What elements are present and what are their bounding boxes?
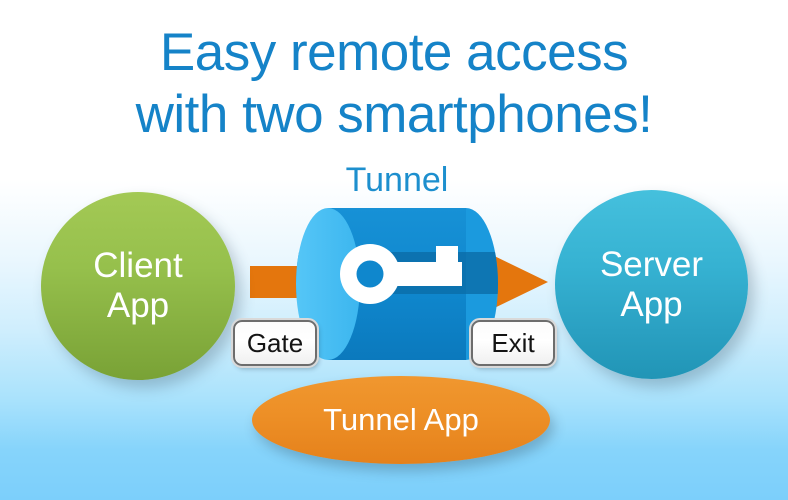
gate-button-label: Gate (247, 329, 303, 357)
gate-button[interactable]: Gate (233, 320, 317, 366)
server-app-label: Server App (600, 245, 703, 325)
client-app-label: Client App (93, 246, 182, 326)
tunnel-label: Tunnel (296, 161, 498, 199)
tunnel-cylinder (296, 208, 498, 360)
tunnel-app-node[interactable]: Tunnel App (252, 376, 550, 464)
server-app-node[interactable]: Server App (555, 190, 748, 379)
exit-button[interactable]: Exit (471, 320, 555, 366)
tunnel-app-label: Tunnel App (323, 403, 479, 437)
page-title: Easy remote access with two smartphones! (0, 22, 788, 146)
client-app-node[interactable]: Client App (41, 192, 235, 380)
exit-button-label: Exit (491, 329, 534, 357)
diagram-canvas: Easy remote access with two smartphones! (0, 0, 788, 500)
